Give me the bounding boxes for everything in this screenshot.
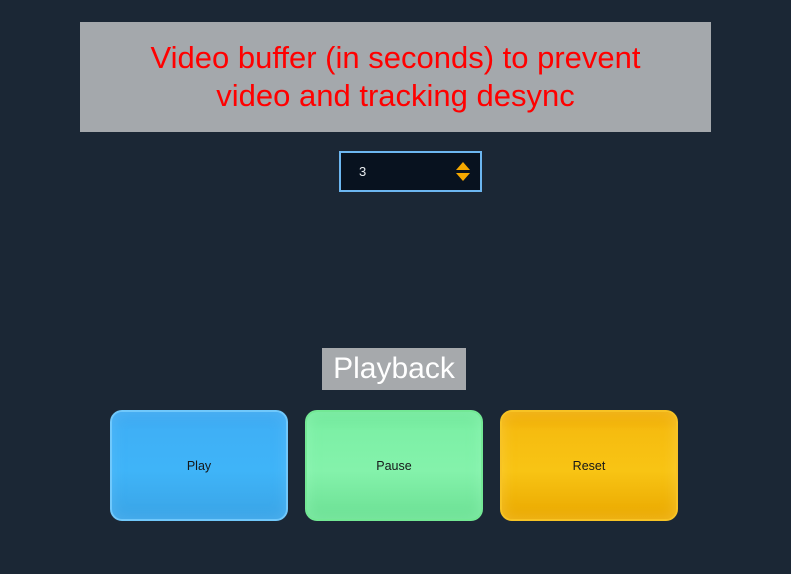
play-button[interactable]: Play (110, 410, 288, 521)
reset-button-label: Reset (573, 459, 606, 473)
buffer-description-text: Video buffer (in seconds) to prevent vid… (137, 39, 655, 115)
pause-button-label: Pause (376, 459, 411, 473)
video-buffer-input[interactable]: 3 (341, 165, 450, 178)
play-button-label: Play (187, 459, 211, 473)
playback-section-label: Playback (322, 348, 466, 390)
buffer-description-banner: Video buffer (in seconds) to prevent vid… (80, 22, 711, 132)
video-buffer-spinner[interactable]: 3 (339, 151, 482, 192)
playback-section-label-text: Playback (333, 354, 455, 384)
spinner-stepper-buttons[interactable] (450, 153, 480, 190)
chevron-up-icon[interactable] (456, 162, 470, 170)
reset-button[interactable]: Reset (500, 410, 678, 521)
chevron-down-icon[interactable] (456, 173, 470, 181)
pause-button[interactable]: Pause (305, 410, 483, 521)
